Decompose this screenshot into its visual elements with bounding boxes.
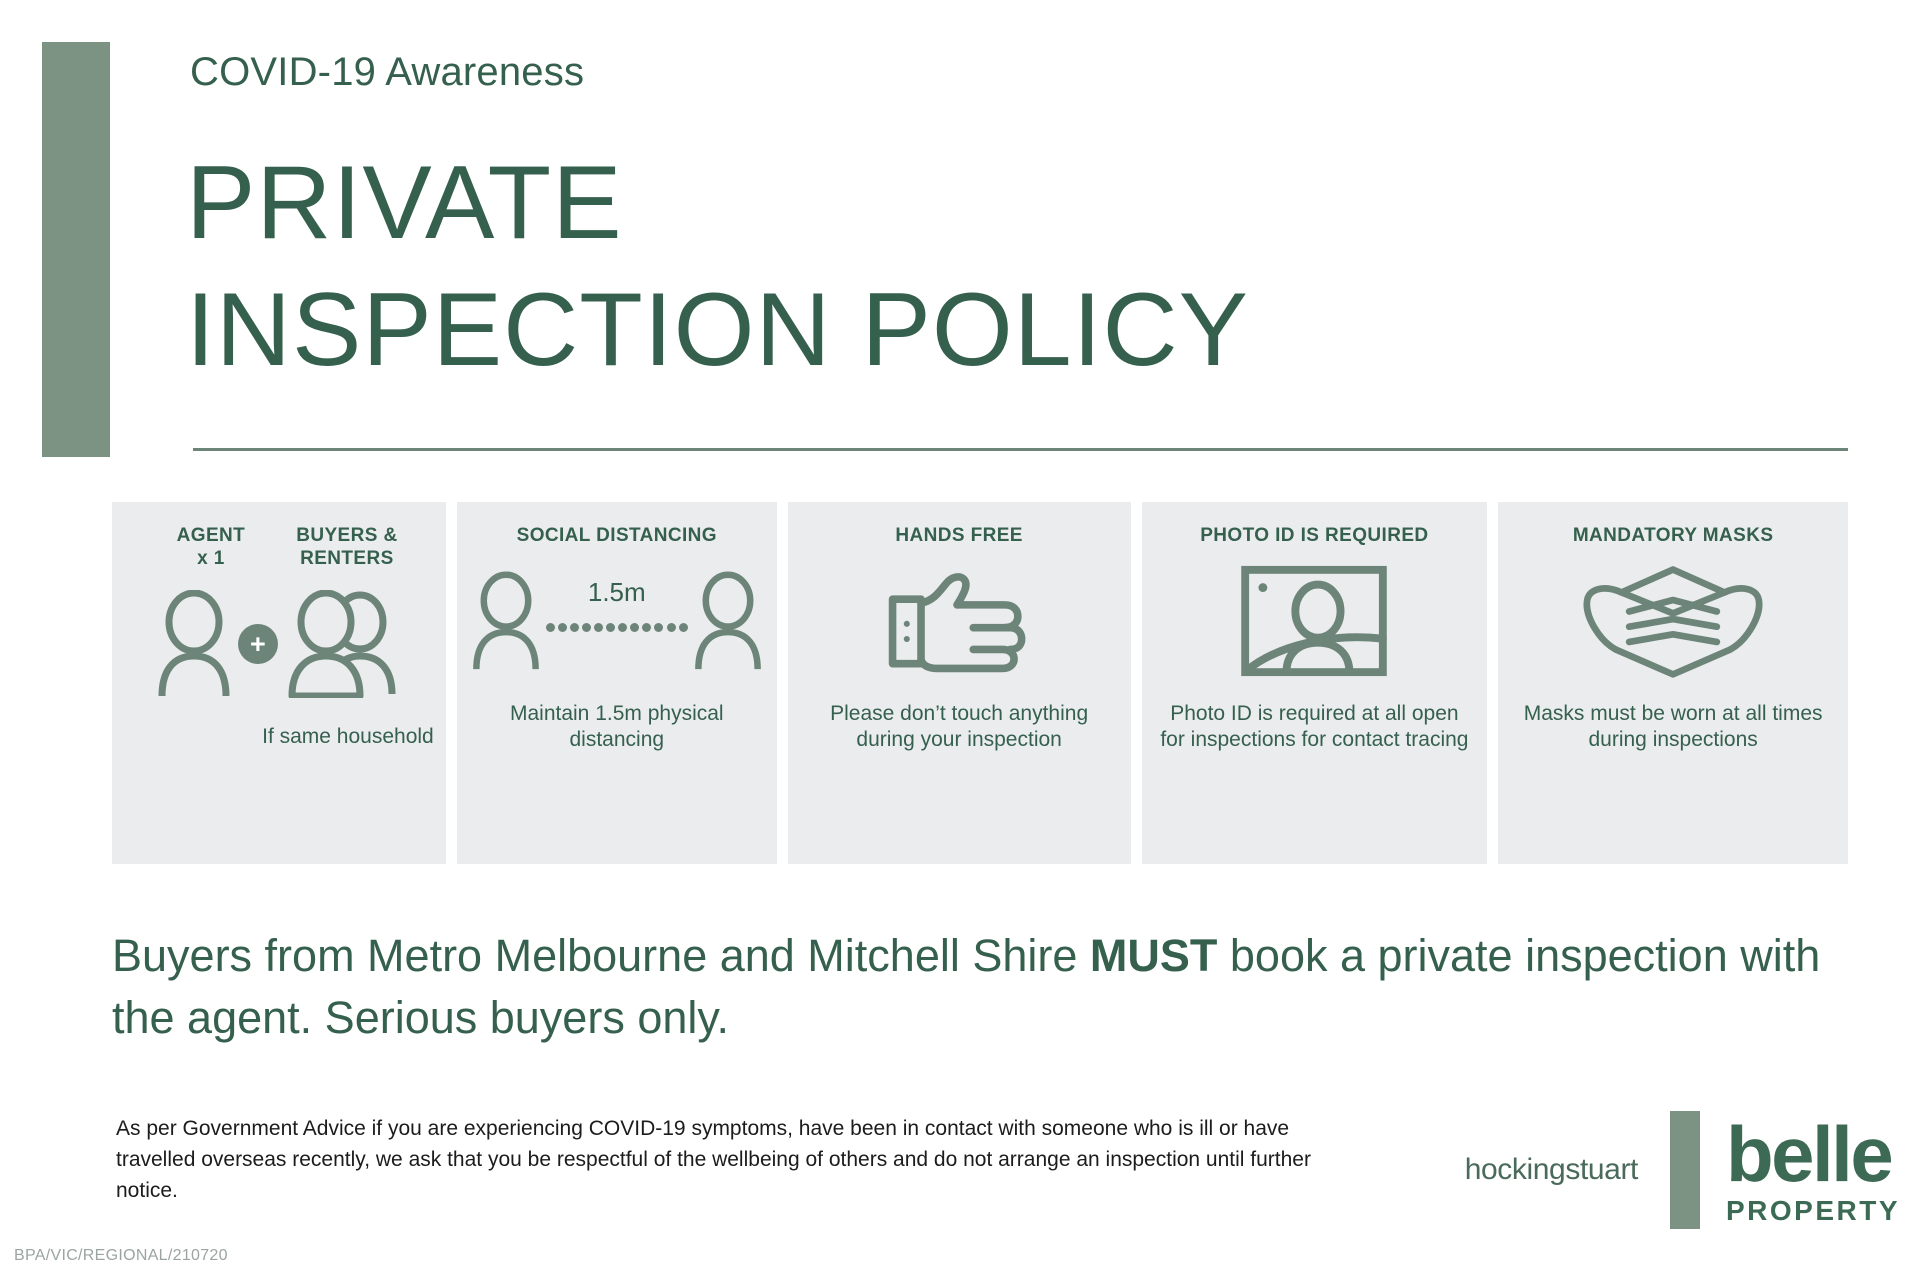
panel-heading-buyers-line2: RENTERS: [293, 547, 401, 570]
belle-property-logo: belle PROPERTY: [1726, 1115, 1900, 1225]
panel-hands-free-caption: Please don’t touch anything during your …: [788, 701, 1131, 753]
panel-mandatory-masks: MANDATORY MASKS Masks must be worn at al…: [1498, 502, 1848, 864]
photo-id-icon: [1142, 555, 1488, 687]
panel-agent-buyers-caption: If same household: [112, 724, 446, 750]
social-distancing-icon: 1.5m: [457, 555, 777, 687]
header: COVID-19 Awareness PRIVATE INSPECTION PO…: [0, 0, 1920, 470]
page-title-line-1: PRIVATE: [186, 140, 1856, 267]
eyebrow-label: COVID-19 Awareness: [190, 50, 584, 94]
hockingstuart-logo: hockingstuart: [1465, 1153, 1638, 1187]
title-divider: [193, 448, 1848, 451]
statement-part-1: Buyers from Metro Melbourne and Mitchell…: [112, 930, 1090, 981]
policy-statement: Buyers from Metro Melbourne and Mitchell…: [112, 925, 1832, 1049]
statement-emphasis: MUST: [1090, 930, 1218, 981]
logo-divider-bar: [1670, 1111, 1700, 1229]
panel-social-distancing: SOCIAL DISTANCING 1.5m Maintain 1.5m phy…: [457, 502, 777, 864]
panel-heading-agent-line1: AGENT: [157, 524, 265, 547]
panel-hands-free-heading: HANDS FREE: [788, 524, 1131, 547]
panel-photo-id: PHOTO ID IS REQUIRED Photo ID is require…: [1142, 502, 1488, 864]
page-title-line-2: INSPECTION POLICY: [186, 267, 1856, 394]
panel-mandatory-masks-heading: MANDATORY MASKS: [1498, 524, 1848, 547]
people-plus-icon: +: [112, 578, 446, 710]
panel-heading-buyers-line1: BUYERS &: [293, 524, 401, 547]
panel-photo-id-heading: PHOTO ID IS REQUIRED: [1142, 524, 1488, 547]
face-mask-icon: [1498, 555, 1848, 687]
page-title: PRIVATE INSPECTION POLICY: [186, 140, 1856, 394]
accent-bar: [42, 42, 110, 457]
panel-photo-id-caption: Photo ID is required at all open for ins…: [1142, 701, 1488, 753]
belle-property-subtext: PROPERTY: [1726, 1197, 1900, 1225]
panel-social-distancing-heading: SOCIAL DISTANCING: [457, 524, 777, 547]
distance-label: 1.5m: [588, 577, 646, 608]
disclaimer-text: As per Government Advice if you are expe…: [116, 1113, 1326, 1206]
belle-wordmark: belle: [1726, 1115, 1900, 1193]
document-code: BPA/VIC/REGIONAL/210720: [14, 1247, 228, 1265]
policy-panels: AGENT x 1 BUYERS & RENTERS + If sa: [112, 502, 1848, 864]
panel-agent-buyers-heading: AGENT x 1 BUYERS & RENTERS: [112, 524, 446, 570]
panel-hands-free: HANDS FREE Please don’t touch anything d…: [788, 502, 1131, 864]
panel-social-distancing-caption: Maintain 1.5m physical distancing: [457, 701, 777, 753]
hand-icon: [788, 555, 1131, 687]
panel-heading-agent-line2: x 1: [157, 547, 265, 570]
distance-dotted-line: [546, 621, 688, 633]
brand-logos: hockingstuart belle PROPERTY: [1465, 1108, 1900, 1232]
panel-agent-buyers: AGENT x 1 BUYERS & RENTERS + If sa: [112, 502, 446, 864]
plus-badge: +: [238, 624, 278, 664]
panel-mandatory-masks-caption: Masks must be worn at all times during i…: [1498, 701, 1848, 753]
